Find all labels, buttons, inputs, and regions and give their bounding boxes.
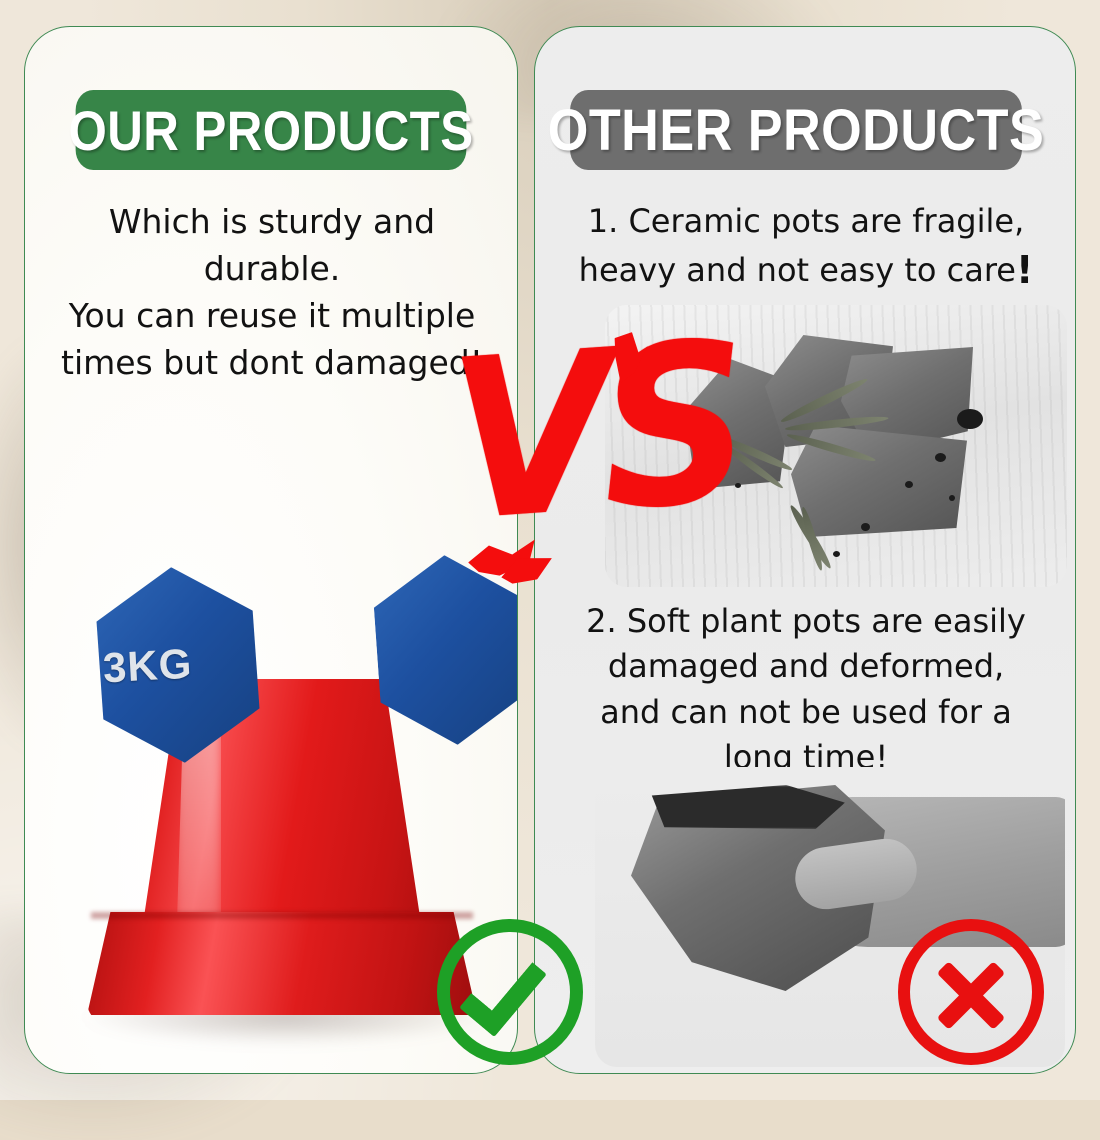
other-products-body-text-1-main: 1. Ceramic pots are fragile, heavy and n…: [579, 202, 1025, 289]
red-pot-rim-line: [91, 912, 473, 919]
dumbbell-weight-label: 3KG: [102, 640, 194, 693]
soil-clump: [935, 453, 946, 462]
panel-our-products: OUR PRODUCTS Which is sturdy and durable…: [24, 26, 518, 1074]
check-glyph: [459, 945, 547, 1037]
x-circle-icon: [898, 919, 1044, 1065]
other-products-badge: OTHER PRODUCTS: [570, 90, 1022, 170]
other-products-body-text-1-exclamation: !: [1016, 248, 1033, 292]
red-pot-rim: [87, 912, 477, 1024]
soil-clump: [905, 481, 913, 488]
check-circle-icon: [437, 919, 583, 1065]
our-products-badge: OUR PRODUCTS: [76, 90, 467, 170]
soil-clump: [861, 523, 870, 531]
other-products-body-text-2: 2. Soft plant pots are easily damaged an…: [541, 599, 1071, 781]
our-products-badge-label: OUR PRODUCTS: [69, 98, 474, 163]
other-products-body-text-1: 1. Ceramic pots are fragile, heavy and n…: [541, 199, 1071, 298]
our-products-body-text: Which is sturdy and durable. You can reu…: [35, 199, 509, 386]
soil-clump: [833, 551, 840, 557]
other-products-badge-label: OTHER PRODUCTS: [548, 97, 1044, 164]
soil-clump: [949, 495, 955, 501]
soil-clump: [957, 409, 983, 429]
